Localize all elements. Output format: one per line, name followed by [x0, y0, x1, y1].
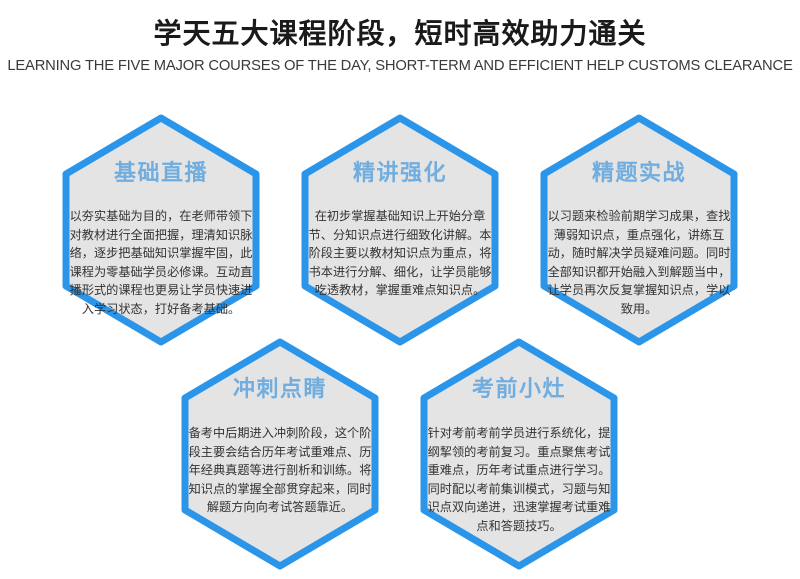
stage-hexagon-5[interactable]: 考前小灶 针对考前考前学员进行系统化，提纲挈领的考前复习。重点聚焦考试重难点，历…: [408, 336, 630, 572]
hexagon-shape-icon: [408, 336, 630, 572]
stage-hexagon-4[interactable]: 冲刺点睛 备考中后期进入冲刺阶段，这个阶段主要会结合历年考试重难点、历年经典真题…: [169, 336, 391, 572]
hexagon-shape-icon: [169, 336, 391, 572]
hexagon-shape-icon: [50, 112, 272, 348]
stage-hexagon-2[interactable]: 精讲强化 在初步掌握基础知识上开始分章节、分知识点进行细致化讲解。本阶段主要以教…: [289, 112, 511, 348]
hexagon-shape-icon: [289, 112, 511, 348]
stage-hexagon-3[interactable]: 精题实战 以习题来检验前期学习成果，查找薄弱知识点，重点强化，讲练互动，随时解决…: [528, 112, 750, 348]
stage-hexagon-1[interactable]: 基础直播 以夯实基础为目的，在老师带领下对教材进行全面把握，理清知识脉络，逐步把…: [50, 112, 272, 348]
hexagon-shape-icon: [528, 112, 750, 348]
course-stage-hexagon-board: 基础直播 以夯实基础为目的，在老师带领下对教材进行全面把握，理清知识脉络，逐步把…: [0, 0, 800, 579]
